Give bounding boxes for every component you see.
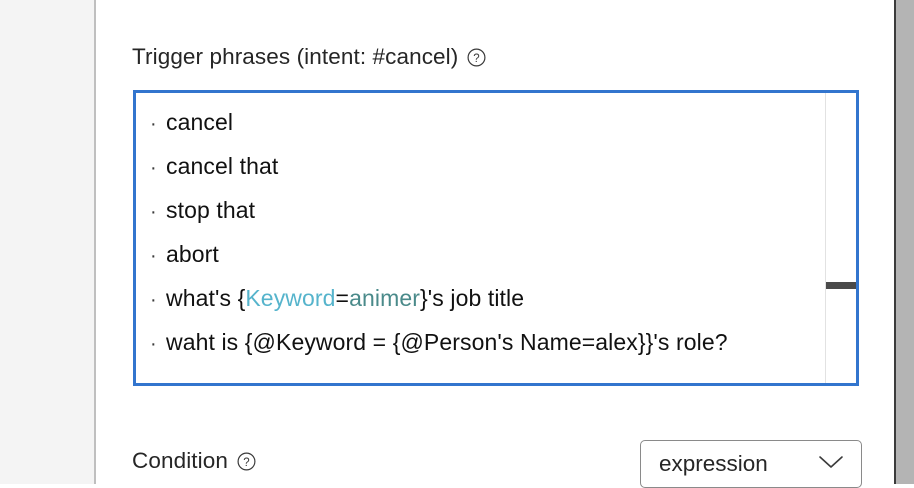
help-circle-icon[interactable]: ? [467,48,486,67]
condition-label: Condition [132,448,228,474]
page-vertical-scrollbar[interactable] [896,0,914,484]
chevron-down-icon[interactable] [818,454,844,475]
svg-text:?: ? [243,457,249,469]
phrase-entity-token: Keyword [245,285,335,311]
left-side-panel [0,0,96,484]
phrase-text: cancel [166,109,233,135]
condition-dropdown-selected-value: expression [659,451,768,477]
phrase-bullet: · [150,103,166,145]
phrase-text: waht is {@Keyword = {@Person's Name=alex… [166,329,728,355]
trigger-phrase-list[interactable]: ·cancel·cancel that·stop that·abort·what… [136,93,830,383]
phrase-text: }'s job title [420,285,524,311]
phrase-bullet: · [150,147,166,189]
editor-scrollbar-thumb[interactable] [826,282,856,289]
help-circle-icon[interactable]: ? [237,452,256,471]
phrase-text: stop that [166,197,255,223]
trigger-phrases-label-row: Trigger phrases (intent: #cancel) ? [132,44,486,70]
trigger-phrase-item[interactable]: ·what's {Keyword=animer}'s job title [150,277,830,321]
trigger-phrase-item[interactable]: ·abort [150,233,830,277]
phrase-text: cancel that [166,153,278,179]
phrase-text: abort [166,241,219,267]
trigger-phrases-textarea[interactable]: ·cancel·cancel that·stop that·abort·what… [133,90,859,386]
phrase-entity-value: animer [349,285,420,311]
properties-panel: Trigger phrases (intent: #cancel) ? ·can… [98,0,894,484]
trigger-phrase-item[interactable]: ·cancel [150,101,830,145]
phrase-bullet: · [150,279,166,321]
trigger-phrase-item[interactable]: ·cancel that [150,145,830,189]
editor-vertical-scrollbar[interactable] [825,93,856,383]
condition-label-row: Condition ? [132,448,256,474]
phrase-bullet: · [150,235,166,277]
trigger-phrases-label: Trigger phrases (intent: #cancel) [132,44,458,70]
trigger-phrase-item[interactable]: ·waht is {@Keyword = {@Person's Name=ale… [150,321,830,365]
phrase-bullet: · [150,323,166,365]
phrase-bullet: · [150,191,166,233]
trigger-phrase-item[interactable]: ·stop that [150,189,830,233]
phrase-text: what's { [166,285,245,311]
svg-text:?: ? [474,53,480,65]
phrase-text: = [336,285,350,311]
condition-type-dropdown[interactable]: expression [640,440,862,488]
